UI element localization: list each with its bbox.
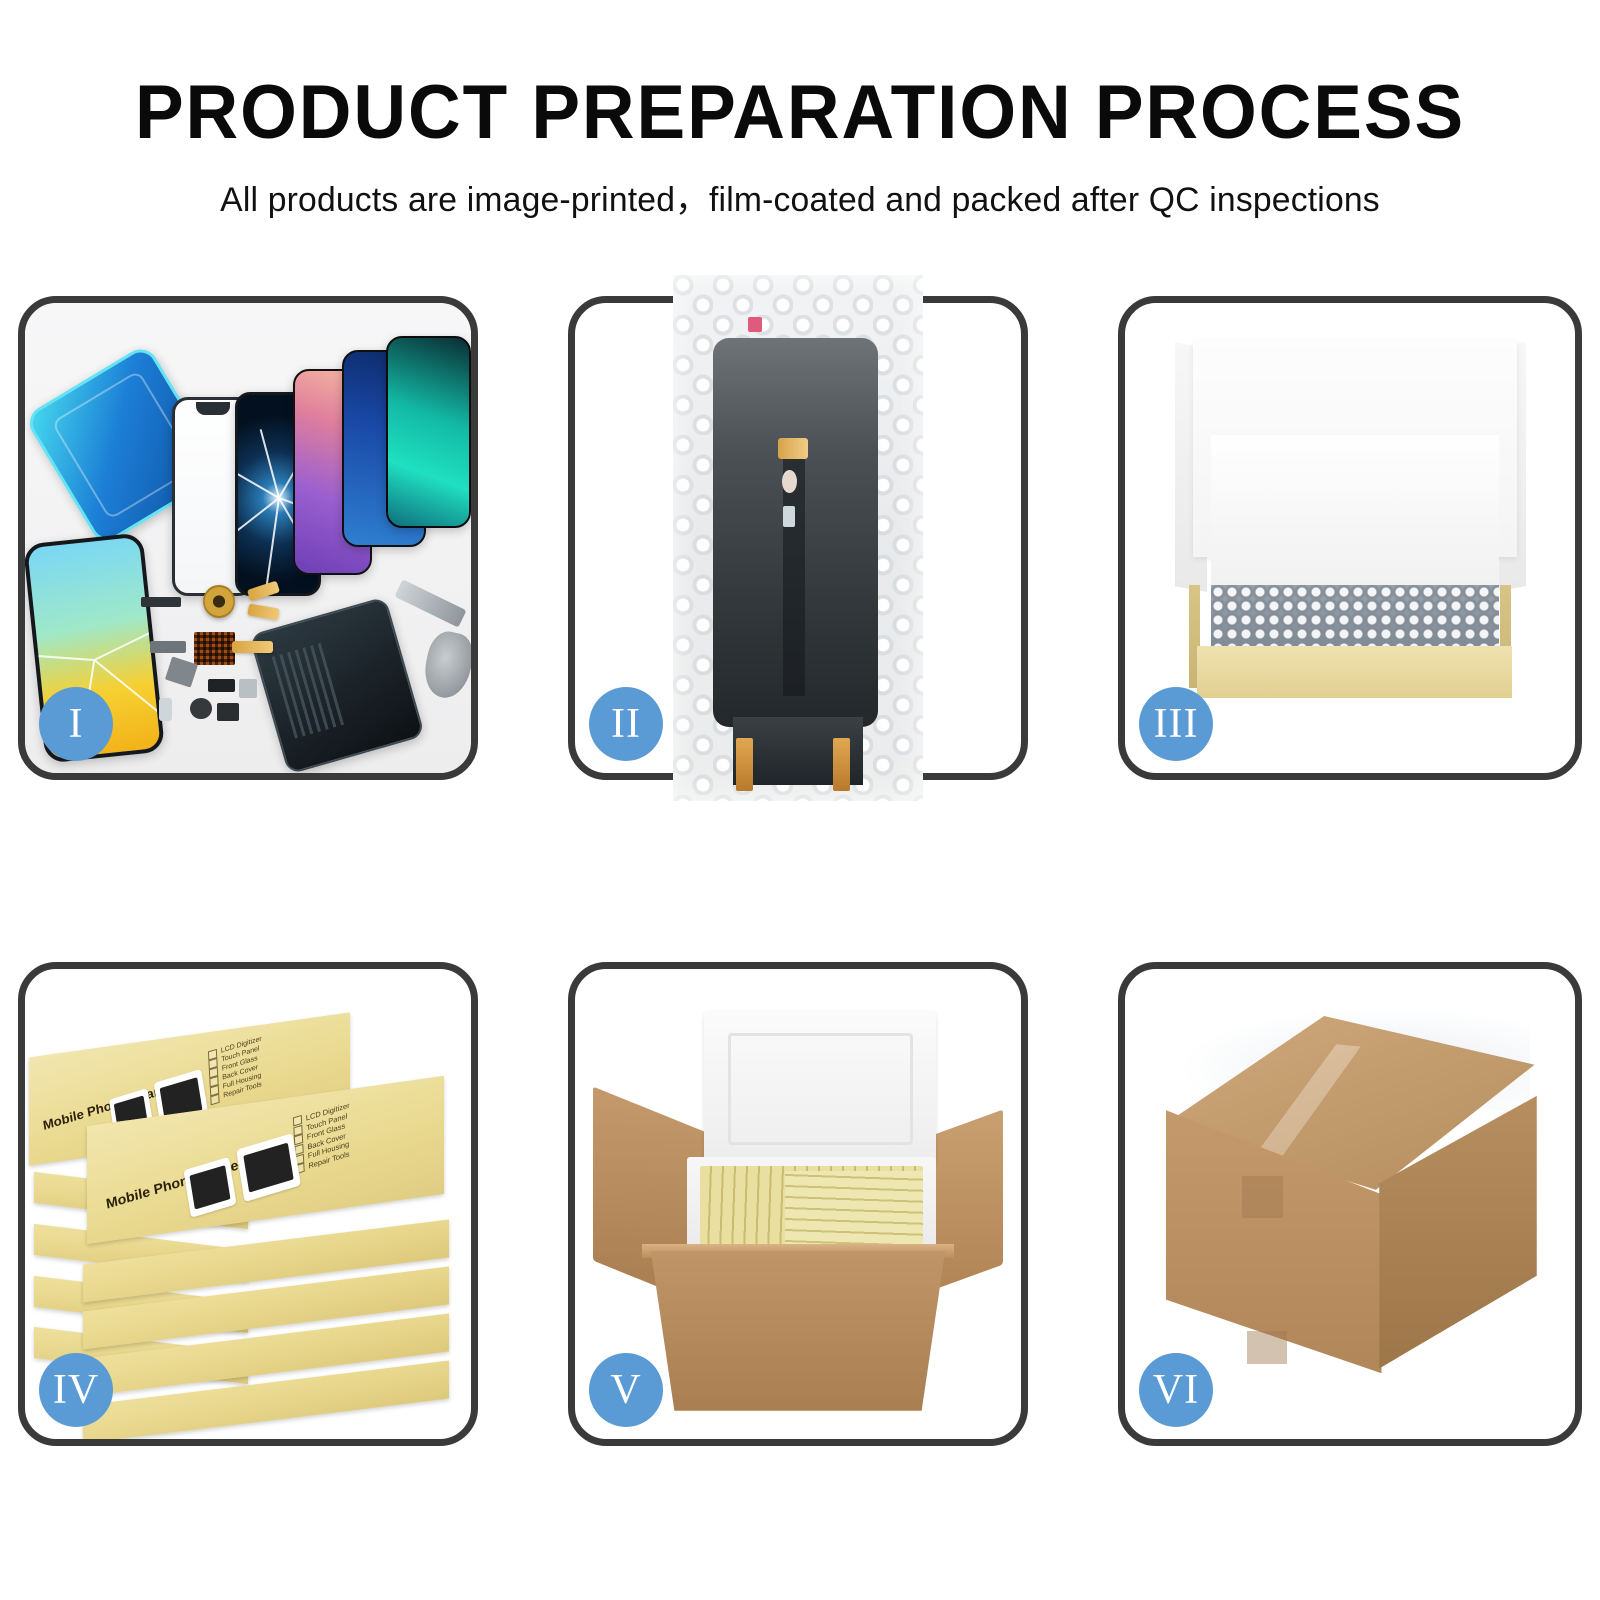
gold-contact-right-image bbox=[833, 738, 850, 791]
panel-1-spare-parts[interactable]: I bbox=[18, 296, 478, 780]
pink-qc-sticker-image bbox=[748, 317, 762, 332]
tape-patch-lower-image bbox=[1247, 1331, 1288, 1364]
panel-5-badge: V bbox=[589, 1353, 663, 1427]
metal-bracket-image bbox=[150, 641, 186, 652]
bubble-wrap-film-image bbox=[673, 275, 923, 801]
process-panel-grid: I II bbox=[0, 0, 1600, 1600]
panel-6-sealed-carton[interactable]: VI bbox=[1118, 962, 1582, 1446]
packed-gold-boxes-right-image bbox=[785, 1171, 923, 1251]
panel-4-badge: IV bbox=[39, 1353, 113, 1427]
teal-gradient-phone-image bbox=[386, 336, 470, 528]
sim-tray-image bbox=[159, 698, 172, 722]
square-pad-image bbox=[783, 506, 795, 527]
top-connector-image bbox=[778, 438, 808, 459]
screw-pack-image bbox=[239, 679, 257, 698]
panel-2-badge: II bbox=[589, 687, 663, 761]
carton-body-image bbox=[651, 1251, 945, 1411]
round-pad-image bbox=[782, 470, 797, 494]
panel-2-bubble-wrapped-lcd[interactable]: II bbox=[568, 296, 1028, 780]
speaker-module-image bbox=[190, 698, 212, 719]
panel-6-badge: VI bbox=[1139, 1353, 1213, 1427]
panel-3-badge: III bbox=[1139, 687, 1213, 761]
ic-chip-image bbox=[194, 632, 234, 665]
page-subtitle: All products are image-printed，film-coat… bbox=[8, 172, 1592, 221]
tray-front-panel-image bbox=[1197, 646, 1512, 698]
panel-3-open-mailer-box[interactable]: III bbox=[1118, 296, 1582, 780]
panel-5-carton-with-foam[interactable]: V bbox=[568, 962, 1028, 1446]
white-inner-liner-image bbox=[1211, 435, 1499, 595]
gold-contact-left-image bbox=[736, 738, 753, 791]
antenna-part-image bbox=[217, 703, 239, 722]
header: PRODUCT PREPARATION PROCESS All products… bbox=[0, 0, 1600, 221]
earpiece-speaker-image bbox=[141, 597, 181, 607]
bubble-wrap-cushion-image bbox=[1211, 585, 1499, 646]
panel-4-stacked-boxes[interactable]: Mobile Phone Spare Parts LCD Digitizer T… bbox=[18, 962, 478, 1446]
vibration-motor-image bbox=[208, 679, 235, 692]
panel-1-badge: I bbox=[39, 687, 113, 761]
foam-lid-image bbox=[704, 1011, 936, 1166]
wireless-charging-coil-image bbox=[203, 585, 234, 618]
sensor-flex-cable-image bbox=[232, 641, 272, 652]
page-title: PRODUCT PREPARATION PROCESS bbox=[32, 74, 1568, 152]
tape-patch-upper-image bbox=[1242, 1176, 1283, 1218]
